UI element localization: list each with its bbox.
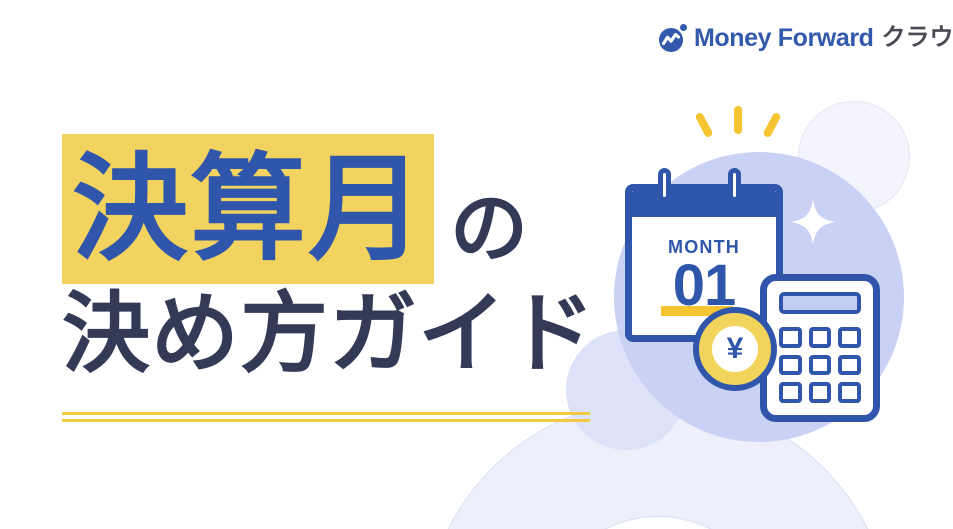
calendar-header-bar — [632, 191, 776, 217]
brand-suffix: クラウド — [882, 26, 953, 50]
headline-line-1: 決算月 の — [62, 106, 662, 284]
calculator-key — [838, 382, 861, 403]
calculator-key — [779, 327, 802, 348]
calculator-key — [838, 355, 861, 376]
headline-block: 決算月 の 決め方ガイド — [62, 106, 662, 378]
calculator-key — [809, 382, 832, 403]
brand-logo[interactable]: Money Forward クラウド — [659, 23, 953, 53]
headline-highlight: 決算月 — [62, 134, 434, 284]
calculator-screen — [779, 292, 861, 314]
money-forward-logo-mark-icon — [659, 24, 687, 52]
calculator-key — [779, 382, 802, 403]
headline-line-2: 決め方ガイド — [62, 290, 662, 378]
calendar-number-wrap: 01 — [632, 257, 776, 315]
calendar-ring-left — [658, 168, 671, 202]
yellow-divider — [62, 412, 590, 422]
calculator-keypad — [779, 327, 861, 403]
headline-particle: の — [450, 190, 528, 268]
headline-highlight-text: 決算月 — [72, 152, 426, 268]
divider-line-bottom — [62, 419, 590, 422]
calculator-key — [838, 327, 861, 348]
calendar-day-number: 01 — [673, 253, 736, 318]
calculator-key — [809, 355, 832, 376]
hero-banner: Money Forward クラウド 決算月 の 決め方ガイド — [0, 0, 953, 529]
four-point-sparkle-icon — [788, 197, 838, 247]
lavender-arch-cutout — [540, 516, 776, 529]
yen-symbol: ¥ — [712, 326, 758, 372]
brand-wordmark: Money Forward — [694, 26, 874, 51]
sparkle-rays-icon — [698, 104, 778, 144]
calculator-illustration — [760, 274, 880, 422]
yen-coin-illustration: ¥ — [693, 307, 777, 391]
calculator-key — [809, 327, 832, 348]
ray-left — [694, 112, 713, 139]
divider-line-top — [62, 412, 590, 415]
calendar-ring-right — [728, 168, 741, 202]
ray-right — [762, 112, 781, 139]
ray-center — [734, 106, 742, 134]
calculator-key — [779, 355, 802, 376]
hero-illustration: MONTH 01 ¥ — [600, 90, 920, 420]
